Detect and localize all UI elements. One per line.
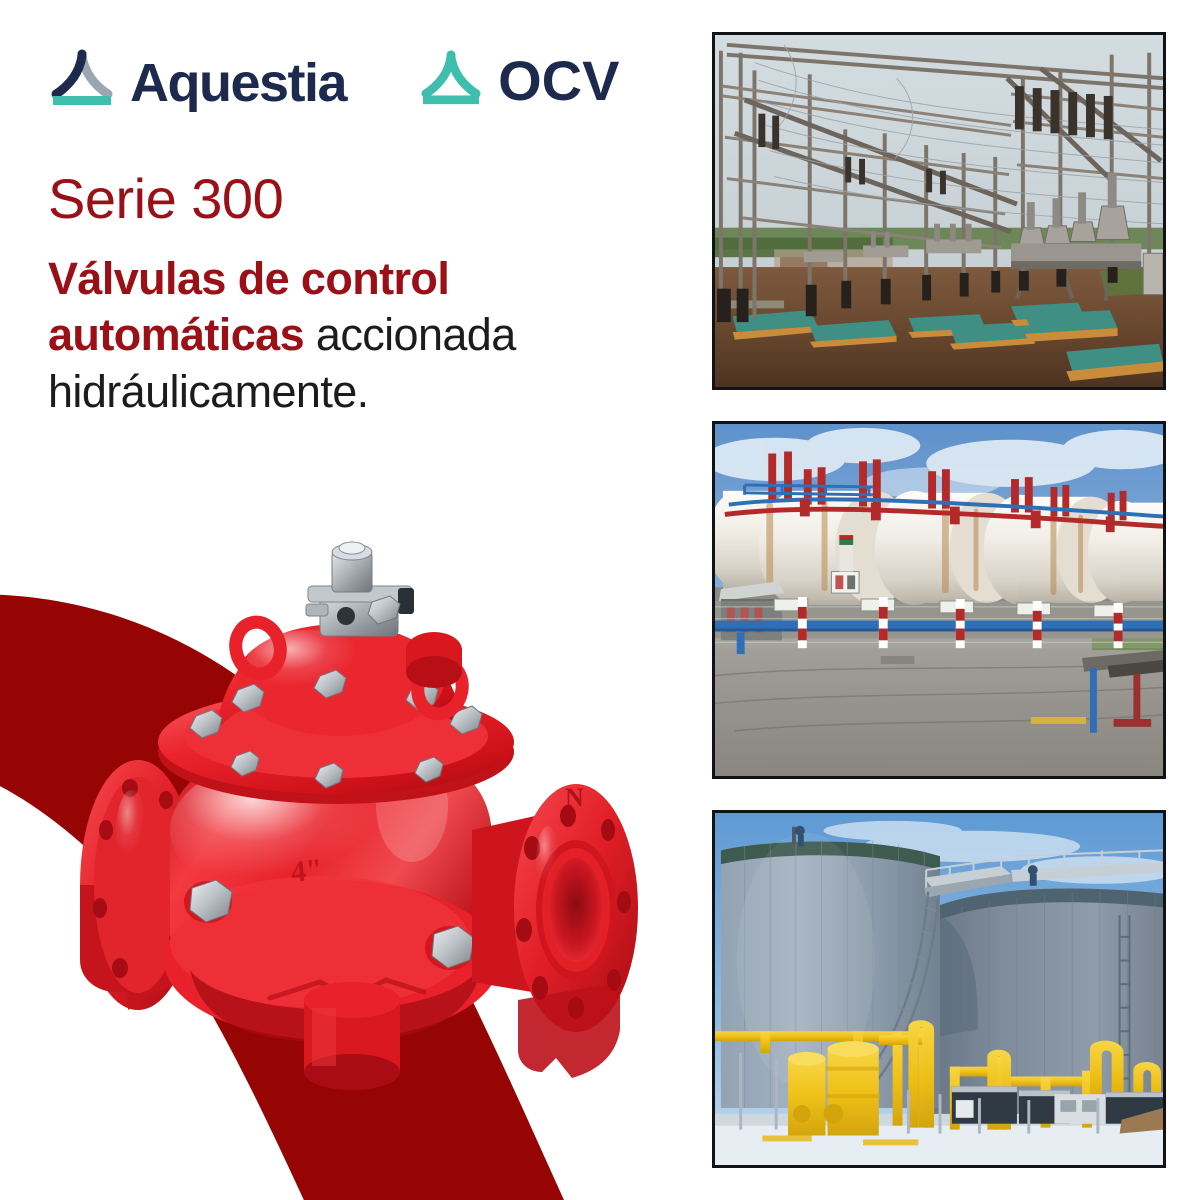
subhead: Válvulas de control automáticas accionad…: [48, 251, 658, 421]
series-title: Serie 300: [48, 170, 658, 229]
flange-marking: N: [565, 783, 584, 812]
outlet-flange: N: [472, 783, 638, 1078]
headline-block: Serie 300 Válvulas de control automática…: [48, 170, 658, 421]
aquestia-logo[interactable]: Aquestia: [48, 48, 346, 110]
photo-lpg-tank-farm: [712, 421, 1166, 779]
left-content-panel: Aquestia OCV Serie 300 Válvulas de contr…: [0, 0, 700, 1200]
brand-logo-row: Aquestia OCV: [48, 48, 619, 110]
ocv-wordmark: OCV: [498, 53, 619, 109]
pilot-valve-assembly: [306, 542, 414, 636]
photo-column: [712, 32, 1166, 1168]
photo-substation: [712, 32, 1166, 390]
control-valve-render: 4": [20, 530, 670, 1170]
ocv-logo[interactable]: OCV: [418, 49, 619, 109]
bottom-drain-plug: [304, 982, 400, 1090]
aquestia-wordmark: Aquestia: [130, 56, 346, 110]
ocv-arch-mark: [418, 49, 484, 109]
aquestia-arch-mark: [48, 48, 116, 110]
photo-bulk-storage-tanks: [712, 810, 1166, 1168]
bonnet-boss: [406, 632, 462, 688]
valve-size-marking: 4": [289, 853, 324, 889]
